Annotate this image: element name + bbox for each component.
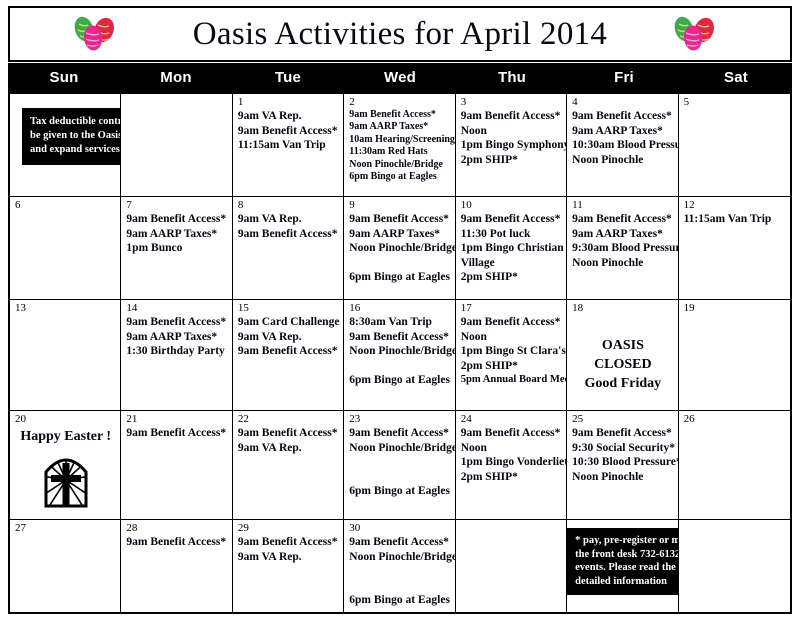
day-cell-20[interactable]: 20 Happy Easter !: [10, 411, 121, 519]
day-cell-30[interactable]: 30 9am Benefit Access* Noon Pinochle/Bri…: [344, 520, 455, 612]
event-spacer: [349, 470, 450, 485]
event-item: 1:30 Birthday Party: [126, 344, 227, 359]
day-cell-19[interactable]: 19: [679, 300, 790, 410]
day-cell-22[interactable]: 22 9am Benefit Access* 9am VA Rep.: [233, 411, 344, 519]
day-number: 25: [572, 413, 673, 425]
event-item: Noon: [461, 441, 562, 456]
weekday-header-sun: Sun: [8, 63, 120, 92]
event-item: 2pm SHIP*: [461, 153, 562, 168]
day-number: 15: [238, 302, 339, 314]
event-item: 9am Benefit Access*: [238, 227, 339, 242]
day-number: 1: [238, 96, 339, 108]
event-item: 9am Benefit Access*: [572, 212, 673, 227]
event-item: 9am AARP Taxes*: [349, 121, 450, 133]
day-cell-15[interactable]: 15 9am Card Challenge 9am VA Rep. 9am Be…: [233, 300, 344, 410]
day-cell-25[interactable]: 25 9am Benefit Access* 9:30 Social Secur…: [567, 411, 678, 519]
day-cell-3[interactable]: 3 9am Benefit Access* Noon 1pm Bingo Sym…: [456, 94, 567, 196]
event-item: 10:30am Blood Pressure: [572, 138, 673, 153]
footer-note-line: detailed information: [575, 575, 678, 589]
day-events: 9am Benefit Access* 9am AARP Taxes* 1pm …: [126, 212, 227, 256]
week-row: 6 7 9am Benefit Access* 9am AARP Taxes* …: [10, 197, 790, 300]
day-events: 9am Benefit Access* Noon Pinochle/Bridge…: [349, 426, 450, 499]
event-item: 11:15am Van Trip: [684, 212, 786, 227]
day-number: 13: [15, 302, 116, 314]
weekday-header-thu: Thu: [456, 63, 568, 92]
event-spacer: [349, 359, 450, 374]
event-item: 9am AARP Taxes*: [572, 227, 673, 242]
day-cell-6[interactable]: 6: [10, 197, 121, 299]
day-events: 9am Benefit Access* Noon Pinochle/Bridge…: [349, 535, 450, 608]
day-cell-empty: [121, 94, 232, 196]
day-cell-empty: * pay, pre-register or make an appointme…: [567, 520, 678, 612]
day-number: 16: [349, 302, 450, 314]
day-number: 17: [461, 302, 562, 314]
day-number: 2: [349, 96, 450, 108]
event-item: 9am AARP Taxes*: [126, 227, 227, 242]
event-item: 9am VA Rep.: [238, 330, 339, 345]
day-cell-empty: [679, 520, 790, 612]
weekday-header-mon: Mon: [120, 63, 232, 92]
page-title: Oasis Activities for April 2014: [193, 16, 607, 53]
day-events: 9am Benefit Access*: [126, 535, 227, 550]
event-item: Noon: [461, 330, 562, 345]
event-item: 9am Card Challenge: [238, 315, 339, 330]
day-number: 18: [572, 302, 673, 314]
event-item: Noon Pinochle/Bridge: [349, 159, 450, 171]
cross-window-icon: [40, 450, 92, 508]
event-item: 8:30am Van Trip: [349, 315, 450, 330]
day-number: 12: [684, 199, 786, 211]
day-events: 9am Benefit Access* 9:30 Social Security…: [572, 426, 673, 484]
event-item: 9am Benefit Access*: [461, 212, 562, 227]
day-cell-17[interactable]: 17 9am Benefit Access* Noon 1pm Bingo St…: [456, 300, 567, 410]
calendar-grid: Tax deductible contributions may be give…: [8, 92, 792, 614]
event-item: 9am AARP Taxes*: [126, 330, 227, 345]
weekday-header-wed: Wed: [344, 63, 456, 92]
event-item: 9am Benefit Access*: [349, 426, 450, 441]
day-cell-18[interactable]: 18 OASIS CLOSED Good Friday: [567, 300, 678, 410]
event-spacer: [349, 579, 450, 594]
weekday-header-sat: Sat: [680, 63, 792, 92]
day-number: 29: [238, 522, 339, 534]
day-number: 27: [15, 522, 116, 534]
event-item: 9am VA Rep.: [238, 109, 339, 124]
event-item: 9am Benefit Access*: [126, 315, 227, 330]
day-events: 9am Benefit Access* 9am AARP Taxes* Noon…: [349, 212, 450, 285]
event-item: Noon Pinochle/Bridge: [349, 344, 450, 359]
event-item: 9am Benefit Access*: [572, 426, 673, 441]
day-number: 4: [572, 96, 673, 108]
day-events: 9am Card Challenge 9am VA Rep. 9am Benef…: [238, 315, 339, 359]
footer-asterisk-note: * pay, pre-register or make an appointme…: [567, 528, 678, 595]
week-row: 27 28 9am Benefit Access* 29 9am Benefit…: [10, 520, 790, 612]
event-spacer: [349, 256, 450, 271]
event-item: 9am VA Rep.: [238, 441, 339, 456]
tax-note-line: be given to the Oasis to maintain: [30, 129, 121, 143]
day-cell-empty: Tax deductible contributions may be give…: [10, 94, 121, 196]
event-item: 6pm Bingo at Eagles: [349, 270, 450, 285]
event-item: Village: [461, 256, 562, 271]
day-number: 30: [349, 522, 450, 534]
day-cell-8[interactable]: 8 9am VA Rep. 9am Benefit Access*: [233, 197, 344, 299]
event-item: 1pm Bingo Christian: [461, 241, 562, 256]
oasis-closed-notice: OASIS CLOSED Good Friday: [572, 336, 673, 393]
day-cell-12[interactable]: 12 11:15am Van Trip: [679, 197, 790, 299]
week-row: Tax deductible contributions may be give…: [10, 94, 790, 197]
day-events: 8:30am Van Trip 9am Benefit Access* Noon…: [349, 315, 450, 388]
footer-note-line: the front desk 732-6132 for van trip and…: [575, 548, 678, 562]
event-item: 9am Benefit Access*: [461, 315, 562, 330]
event-item: 9am Benefit Access*: [238, 344, 339, 359]
tax-note-line: and expand services.: [30, 143, 121, 157]
event-item: Noon Pinochle: [572, 153, 673, 168]
event-item: 11:15am Van Trip: [238, 138, 339, 153]
event-item: 9am Benefit Access*: [349, 330, 450, 345]
event-item: 9am VA Rep.: [238, 550, 339, 565]
day-number: 20: [15, 413, 116, 425]
day-cell-5[interactable]: 5: [679, 94, 790, 196]
event-item: Noon Pinochle/Bridge: [349, 241, 450, 256]
day-events: 9am Benefit Access* Noon 1pm Bingo Symph…: [461, 109, 562, 167]
event-item: 1pm Bingo Symphony: [461, 138, 562, 153]
day-events: 9am VA Rep. 9am Benefit Access* 11:15am …: [238, 109, 339, 153]
event-item: 2pm SHIP*: [461, 270, 562, 285]
event-item: 2pm SHIP*: [461, 470, 562, 485]
day-events: 9am Benefit Access* 9am AARP Taxes* 1:30…: [126, 315, 227, 359]
event-item: 2pm SHIP*: [461, 359, 562, 374]
easter-eggs-icon-right: [668, 14, 720, 54]
event-item: 9am VA Rep.: [238, 212, 339, 227]
day-cell-10[interactable]: 10 9am Benefit Access* 11:30 Pot luck 1p…: [456, 197, 567, 299]
title-banner: Oasis Activities for April 2014: [8, 6, 792, 62]
day-number: 3: [461, 96, 562, 108]
event-item: 10:30 Blood Pressure*: [572, 455, 673, 470]
day-number: 28: [126, 522, 227, 534]
tax-note-line: Tax deductible contributions may: [30, 115, 121, 129]
event-item: Noon Pinochle: [572, 470, 673, 485]
event-item: 9:30am Blood Pressure: [572, 241, 673, 256]
event-spacer: [349, 564, 450, 579]
day-cell-23[interactable]: 23 9am Benefit Access* Noon Pinochle/Bri…: [344, 411, 455, 519]
event-item: 9am Benefit Access*: [572, 109, 673, 124]
event-item: 9am AARP Taxes*: [349, 227, 450, 242]
day-events: 9am VA Rep. 9am Benefit Access*: [238, 212, 339, 241]
day-cell-4[interactable]: 4 9am Benefit Access* 9am AARP Taxes* 10…: [567, 94, 678, 196]
day-cell-14[interactable]: 14 9am Benefit Access* 9am AARP Taxes* 1…: [121, 300, 232, 410]
event-item: 9am Benefit Access*: [238, 535, 339, 550]
day-events: 9am Benefit Access* 9am AARP Taxes* 9:30…: [572, 212, 673, 270]
day-events: 9am Benefit Access* 9am VA Rep.: [238, 535, 339, 564]
day-number: 24: [461, 413, 562, 425]
event-item: 9am Benefit Access*: [349, 212, 450, 227]
day-events: 9am Benefit Access* 9am AARP Taxes* 10:3…: [572, 109, 673, 167]
weekday-header-tue: Tue: [232, 63, 344, 92]
day-cell-empty: [456, 520, 567, 612]
closed-line: OASIS CLOSED: [572, 336, 673, 374]
closed-line: Good Friday: [572, 374, 673, 393]
day-number: 11: [572, 199, 673, 211]
easter-eggs-icon-left: [68, 14, 120, 54]
event-item: Noon Pinochle/Bridge: [349, 550, 450, 565]
event-item: 9am Benefit Access*: [461, 109, 562, 124]
day-cell-27[interactable]: 27: [10, 520, 121, 612]
day-cell-16[interactable]: 16 8:30am Van Trip 9am Benefit Access* N…: [344, 300, 455, 410]
week-row: 13 14 9am Benefit Access* 9am AARP Taxes…: [10, 300, 790, 411]
weekday-header-fri: Fri: [568, 63, 680, 92]
day-number: 9: [349, 199, 450, 211]
event-item: 6pm Bingo at Eagles: [349, 373, 450, 388]
event-item: 9am Benefit Access*: [349, 535, 450, 550]
event-item: 6pm Bingo at Eagles: [349, 593, 450, 608]
day-events: 9am Benefit Access* 9am AARP Taxes* 10am…: [349, 109, 450, 183]
day-cell-7[interactable]: 7 9am Benefit Access* 9am AARP Taxes* 1p…: [121, 197, 232, 299]
event-item: 6pm Bingo at Eagles: [349, 171, 450, 183]
event-item: 10am Hearing/Screening*: [349, 134, 450, 146]
day-number: 8: [238, 199, 339, 211]
calendar-page: Oasis Activities for April 2014 Sun Mon …: [0, 6, 800, 618]
event-spacer: [349, 455, 450, 470]
day-events: 9am Benefit Access* Noon 1pm Bingo Vonde…: [461, 426, 562, 484]
day-number: 14: [126, 302, 227, 314]
day-number: 7: [126, 199, 227, 211]
day-cell-26[interactable]: 26: [679, 411, 790, 519]
day-events: 9am Benefit Access* 11:30 Pot luck 1pm B…: [461, 212, 562, 285]
event-item: 5pm Annual Board Meeting: [461, 373, 562, 388]
event-item: 11:30 Pot luck: [461, 227, 562, 242]
day-cell-28[interactable]: 28 9am Benefit Access*: [121, 520, 232, 612]
day-cell-24[interactable]: 24 9am Benefit Access* Noon 1pm Bingo Vo…: [456, 411, 567, 519]
event-item: 9am Benefit Access*: [238, 426, 339, 441]
day-number: 21: [126, 413, 227, 425]
day-events: 9am Benefit Access*: [126, 426, 227, 441]
day-number: 6: [15, 199, 116, 211]
day-events: 9am Benefit Access* Noon 1pm Bingo St Cl…: [461, 315, 562, 388]
event-item: Noon: [461, 124, 562, 139]
day-cell-2[interactable]: 2 9am Benefit Access* 9am AARP Taxes* 10…: [344, 94, 455, 196]
week-row: 20 Happy Easter !: [10, 411, 790, 520]
event-item: 11:30am Red Hats: [349, 146, 450, 158]
event-item: 9am AARP Taxes*: [572, 124, 673, 139]
event-item: 9am Benefit Access*: [238, 124, 339, 139]
event-item: Noon Pinochle/Bridge: [349, 441, 450, 456]
day-number: 26: [684, 413, 786, 425]
tax-deductible-note: Tax deductible contributions may be give…: [22, 108, 121, 165]
day-cell-11[interactable]: 11 9am Benefit Access* 9am AARP Taxes* 9…: [567, 197, 678, 299]
day-cell-9[interactable]: 9 9am Benefit Access* 9am AARP Taxes* No…: [344, 197, 455, 299]
day-number: 22: [238, 413, 339, 425]
event-item: Noon Pinochle: [572, 256, 673, 271]
event-item: 1pm Bunco: [126, 241, 227, 256]
day-number: 23: [349, 413, 450, 425]
event-item: 9am Benefit Access*: [126, 535, 227, 550]
weekday-header-row: Sun Mon Tue Wed Thu Fri Sat: [8, 63, 792, 92]
event-item: 9am Benefit Access*: [126, 212, 227, 227]
day-number: 10: [461, 199, 562, 211]
day-number: 19: [684, 302, 786, 314]
day-cell-13[interactable]: 13: [10, 300, 121, 410]
day-number: 5: [684, 96, 786, 108]
day-cell-1[interactable]: 1 9am VA Rep. 9am Benefit Access* 11:15a…: [233, 94, 344, 196]
event-item: 1pm Bingo St Clara's: [461, 344, 562, 359]
day-cell-29[interactable]: 29 9am Benefit Access* 9am VA Rep.: [233, 520, 344, 612]
day-events: 11:15am Van Trip: [684, 212, 786, 227]
footer-note-line: * pay, pre-register or make an appointme…: [575, 534, 678, 548]
event-item: 1pm Bingo Vonderlieth: [461, 455, 562, 470]
event-item: 9am Benefit Access*: [461, 426, 562, 441]
event-item: 9am Benefit Access*: [349, 109, 450, 121]
day-events: 9am Benefit Access* 9am VA Rep.: [238, 426, 339, 455]
happy-easter-label: Happy Easter !: [15, 428, 116, 446]
day-cell-21[interactable]: 21 9am Benefit Access*: [121, 411, 232, 519]
event-item: 6pm Bingo at Eagles: [349, 484, 450, 499]
event-item: 9am Benefit Access*: [126, 426, 227, 441]
footer-note-line: events. Please read the activity notes f…: [575, 561, 678, 575]
event-item: 9:30 Social Security*: [572, 441, 673, 456]
